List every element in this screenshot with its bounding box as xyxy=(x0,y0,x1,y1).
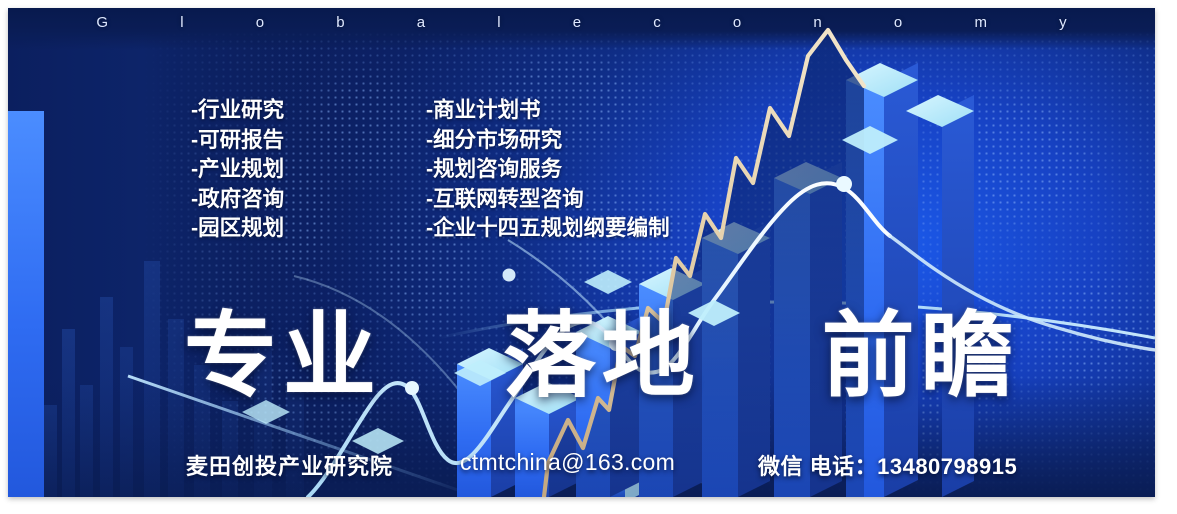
service-item: -规划咨询服务 xyxy=(426,155,670,185)
service-item: -政府咨询 xyxy=(191,185,284,215)
data-point-marker xyxy=(836,176,852,192)
economy-growth-chart xyxy=(8,8,1155,497)
contact-phone[interactable]: 微信 电话：13480798915 xyxy=(758,449,1017,481)
global-economy-label: G l o b a l e c o n o m y xyxy=(8,14,1155,31)
service-item: -商业计划书 xyxy=(426,96,670,126)
headline-word-1: 专业 xyxy=(184,302,382,410)
service-list-left: -行业研究 -可研报告 -产业规划 -政府咨询 -园区规划 xyxy=(191,96,284,244)
service-item: -可研报告 xyxy=(191,126,284,156)
service-item: -细分市场研究 xyxy=(426,126,670,156)
headline-word-3: 前瞻 xyxy=(822,302,1020,410)
service-list-right: -商业计划书 -细分市场研究 -规划咨询服务 -互联网转型咨询 -企业十四五规划… xyxy=(426,96,670,244)
organization-name: 麦田创投产业研究院 xyxy=(186,449,393,481)
service-item: -互联网转型咨询 xyxy=(426,185,670,215)
service-item: -企业十四五规划纲要编制 xyxy=(426,214,670,244)
promotional-banner: G l o b a l e c o n o m y -行业研究 -可研报告 -产… xyxy=(8,8,1155,497)
service-item: -产业规划 xyxy=(191,155,284,185)
service-item: -园区规划 xyxy=(191,214,284,244)
contact-email[interactable]: ctmtchina@163.com xyxy=(460,449,675,476)
main-headline: 专业 落地 前瞻 xyxy=(184,306,1014,406)
headline-word-2: 落地 xyxy=(503,302,701,410)
service-item: -行业研究 xyxy=(191,96,284,126)
